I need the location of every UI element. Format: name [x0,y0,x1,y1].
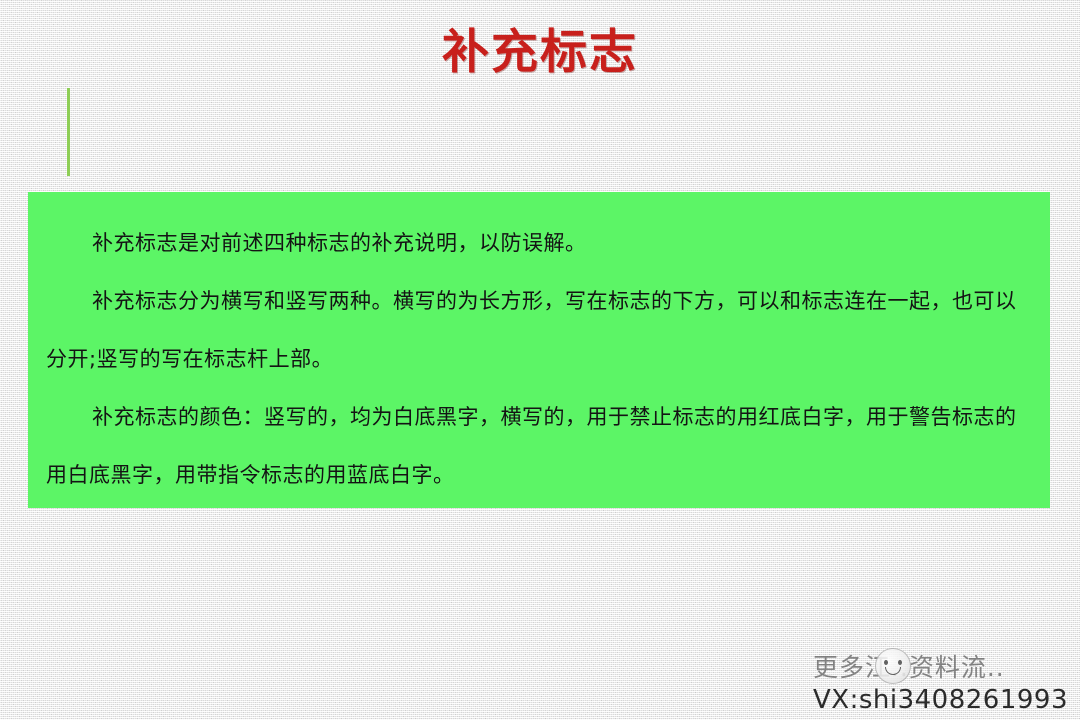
watermark: 更多江..资料流.. VX:shi3408261993 [813,652,1068,716]
text-cursor-caret[interactable] [67,88,70,176]
slide-canvas: 补充标志 补充标志是对前述四种标志的补充说明，以防误解。 补充标志分为横写和竖写… [0,0,1080,720]
body-paragraph-2: 补充标志分为横写和竖写两种。横写的为长方形，写在标志的下方，可以和标志连在一起，… [46,272,1032,388]
emoji-eye-left [884,660,888,665]
page-title: 补充标志 [0,26,1080,80]
emoji-mouth [885,667,901,675]
watermark-promo-text: 更多江..资料流.. [813,652,1068,684]
body-paragraph-1: 补充标志是对前述四种标志的补充说明，以防误解。 [46,214,1032,272]
emoji-eye-right [898,660,902,665]
body-paragraph-3: 补充标志的颜色：竖写的，均为白底黑字，横写的，用于禁止标志的用红底白字，用于警告… [46,388,1032,504]
watermark-contact-id: VX:shi3408261993 [813,684,1068,716]
content-text-box[interactable]: 补充标志是对前述四种标志的补充说明，以防误解。 补充标志分为横写和竖写两种。横写… [28,192,1050,508]
smiley-face-emoji [875,648,911,684]
